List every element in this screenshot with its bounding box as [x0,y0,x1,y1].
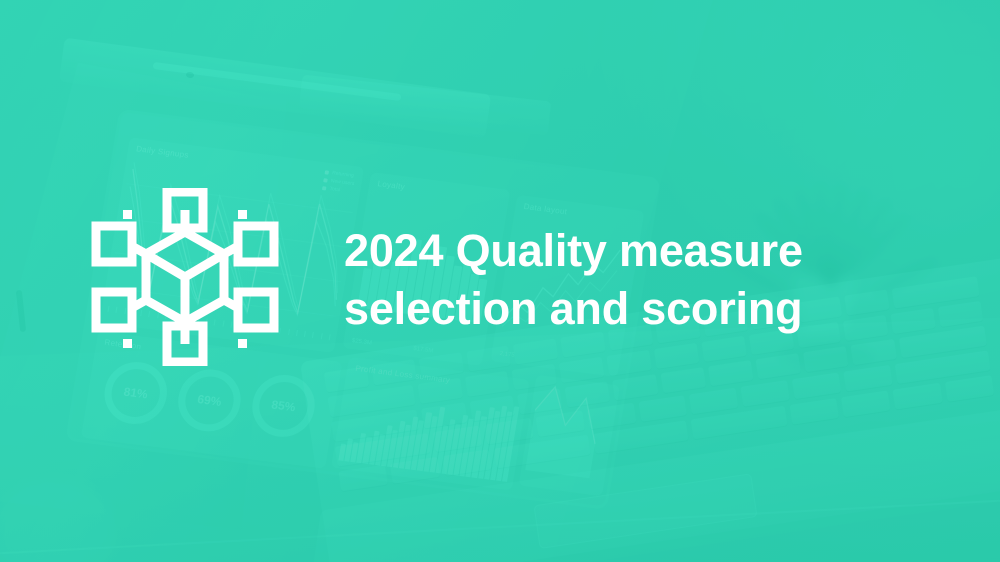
page-title-line-2: selection and scoring [344,280,904,338]
banner-canvas: Daily Signups Returning New users Total [0,0,1000,562]
banner-content: 2024 Quality measure selection and scori… [0,0,1000,562]
network-node-cube-icon [90,188,280,366]
page-title: 2024 Quality measure selection and scori… [344,222,904,338]
page-title-line-1: 2024 Quality measure [344,222,904,280]
